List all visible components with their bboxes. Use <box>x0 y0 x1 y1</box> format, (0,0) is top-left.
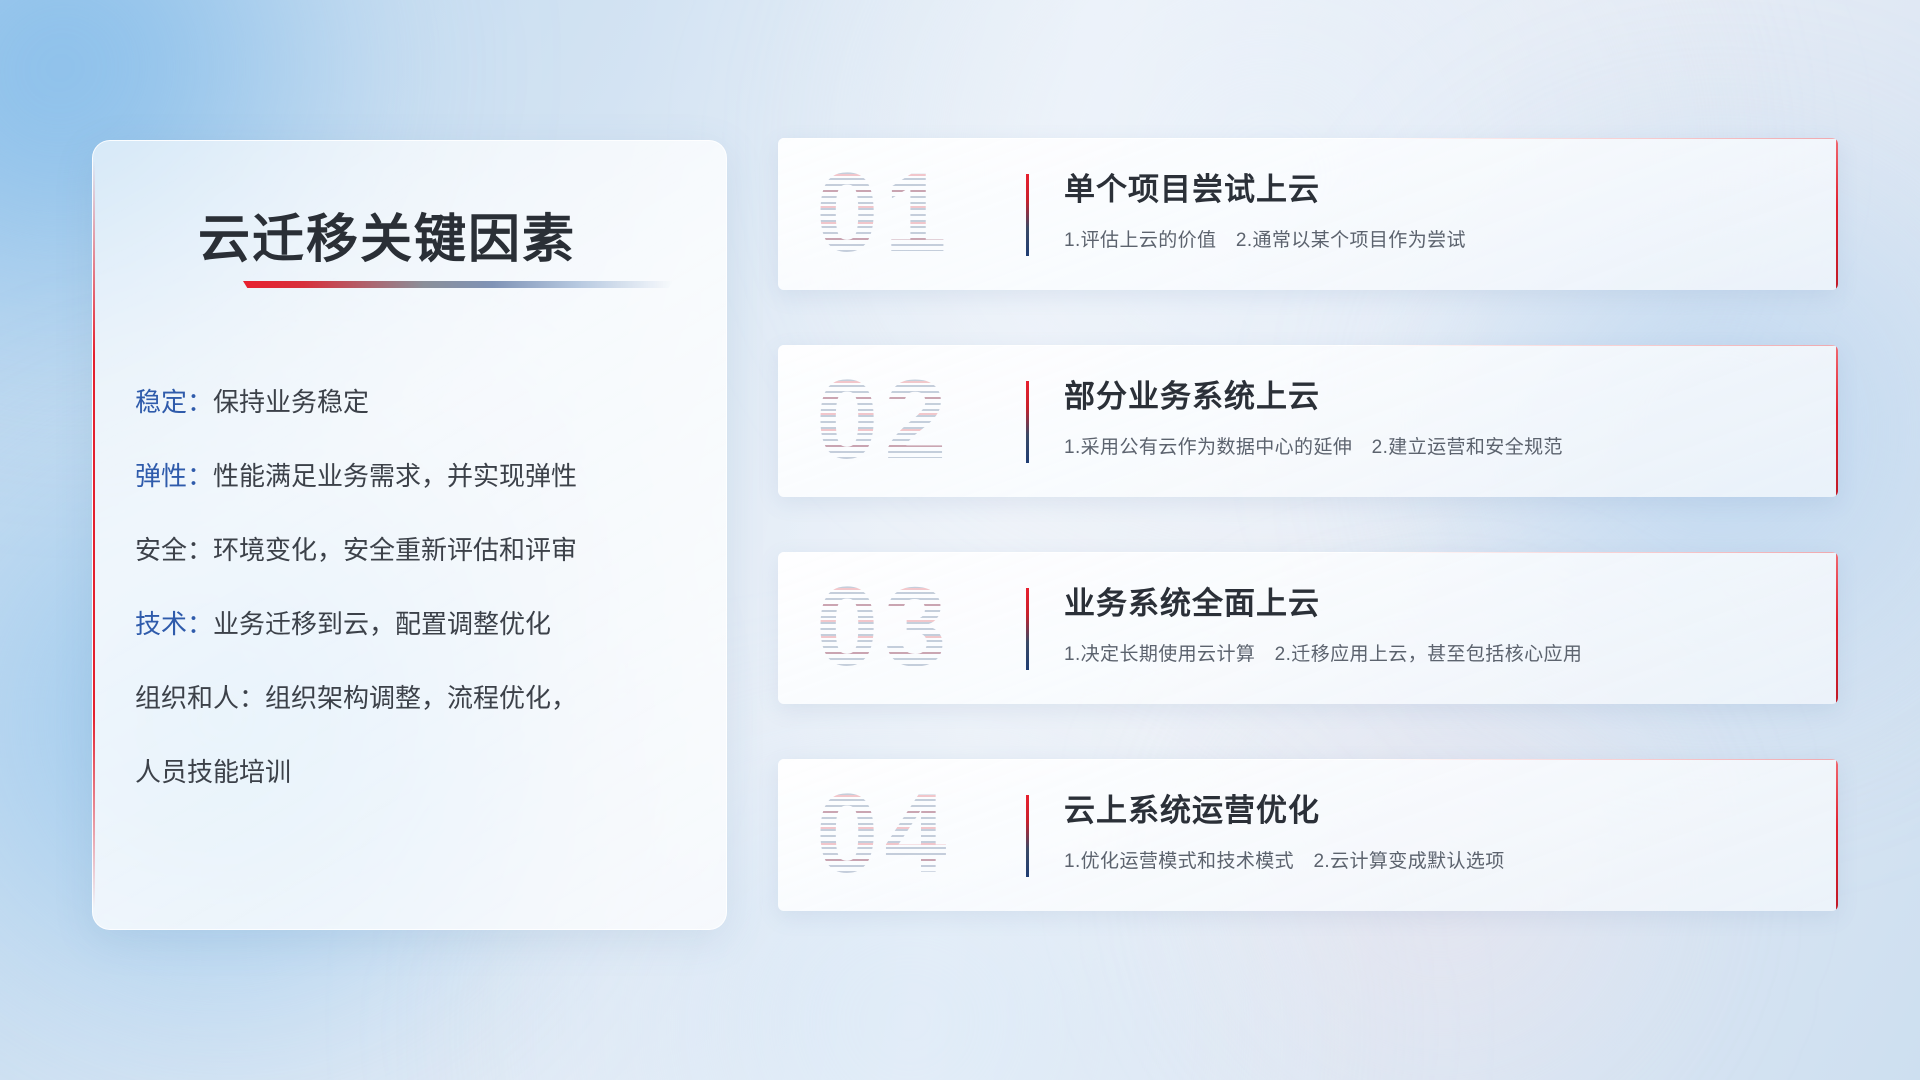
stage-card[interactable]: 01 01 单个项目尝试上云 1.评估上云的价值 2.通常以某个项目作为尝试 <box>778 138 1838 290</box>
card-body: 部分业务系统上云 1.采用公有云作为数据中心的延伸 2.建立运营和安全规范 <box>1064 379 1802 459</box>
list-item-label: 稳定： <box>135 387 213 417</box>
stage-card[interactable]: 03 03 业务系统全面上云 1.决定长期使用云计算 2.迁移应用上云，甚至包括… <box>778 552 1838 704</box>
list-item-label: 弹性： <box>135 461 213 491</box>
card-title: 业务系统全面上云 <box>1064 586 1802 622</box>
stage-card[interactable]: 04 04 云上系统运营优化 1.优化运营模式和技术模式 2.云计算变成默认选项 <box>778 759 1838 911</box>
card-subtitle: 1.采用公有云作为数据中心的延伸 2.建立运营和安全规范 <box>1064 432 1802 459</box>
list-item: 弹性：性能满足业务需求，并实现弹性 <box>135 439 678 513</box>
list-item-text: 保持业务稳定 <box>213 387 369 417</box>
list-item: 稳定：保持业务稳定 <box>135 365 678 439</box>
card-subtitle: 1.决定长期使用云计算 2.迁移应用上云，甚至包括核心应用 <box>1064 639 1802 666</box>
key-factors-panel: 云迁移关键因素 稳定：保持业务稳定 弹性：性能满足业务需求，并实现弹性 安全：环… <box>92 140 727 930</box>
list-item-label: 组织和人： <box>135 683 265 713</box>
card-body: 单个项目尝试上云 1.评估上云的价值 2.通常以某个项目作为尝试 <box>1064 172 1802 252</box>
stage-card-list: 01 01 单个项目尝试上云 1.评估上云的价值 2.通常以某个项目作为尝试 0… <box>778 138 1838 966</box>
list-item-text: 组织架构调整，流程优化， <box>265 683 577 713</box>
stage-number-accent: 04 <box>816 763 1026 905</box>
list-item-text: 业务迁移到云，配置调整优化 <box>213 609 551 639</box>
card-title: 部分业务系统上云 <box>1064 379 1802 415</box>
list-item: 技术：业务迁移到云，配置调整优化 <box>135 587 678 661</box>
list-item-label: 技术： <box>135 609 213 639</box>
stage-number-accent: 03 <box>816 556 1026 698</box>
card-subtitle: 1.评估上云的价值 2.通常以某个项目作为尝试 <box>1064 225 1802 252</box>
list-item: 组织和人：组织架构调整，流程优化， <box>135 661 678 735</box>
stage-number-accent: 01 <box>816 142 1026 284</box>
stage-card[interactable]: 02 02 部分业务系统上云 1.采用公有云作为数据中心的延伸 2.建立运营和安… <box>778 345 1838 497</box>
card-divider <box>1026 795 1029 877</box>
list-item-label: 安全： <box>135 535 213 565</box>
stage-number-accent: 02 <box>816 349 1026 491</box>
card-divider <box>1026 588 1029 670</box>
page-title: 云迁移关键因素 <box>198 197 576 272</box>
list-item-text: 环境变化，安全重新评估和评审 <box>213 535 577 565</box>
list-item-continuation: 人员技能培训 <box>135 735 678 809</box>
list-item-text: 性能满足业务需求，并实现弹性 <box>213 461 577 491</box>
slide-stage: 云迁移关键因素 稳定：保持业务稳定 弹性：性能满足业务需求，并实现弹性 安全：环… <box>0 0 1920 1080</box>
title-underline-rule <box>243 281 673 288</box>
card-divider <box>1026 174 1029 256</box>
card-body: 云上系统运营优化 1.优化运营模式和技术模式 2.云计算变成默认选项 <box>1064 793 1802 873</box>
card-title: 单个项目尝试上云 <box>1064 172 1802 208</box>
card-divider <box>1026 381 1029 463</box>
key-factors-list: 稳定：保持业务稳定 弹性：性能满足业务需求，并实现弹性 安全：环境变化，安全重新… <box>93 365 726 809</box>
card-subtitle: 1.优化运营模式和技术模式 2.云计算变成默认选项 <box>1064 846 1802 873</box>
card-body: 业务系统全面上云 1.决定长期使用云计算 2.迁移应用上云，甚至包括核心应用 <box>1064 586 1802 666</box>
card-title: 云上系统运营优化 <box>1064 793 1802 829</box>
list-item: 安全：环境变化，安全重新评估和评审 <box>135 513 678 587</box>
list-item-text: 人员技能培训 <box>135 757 291 787</box>
